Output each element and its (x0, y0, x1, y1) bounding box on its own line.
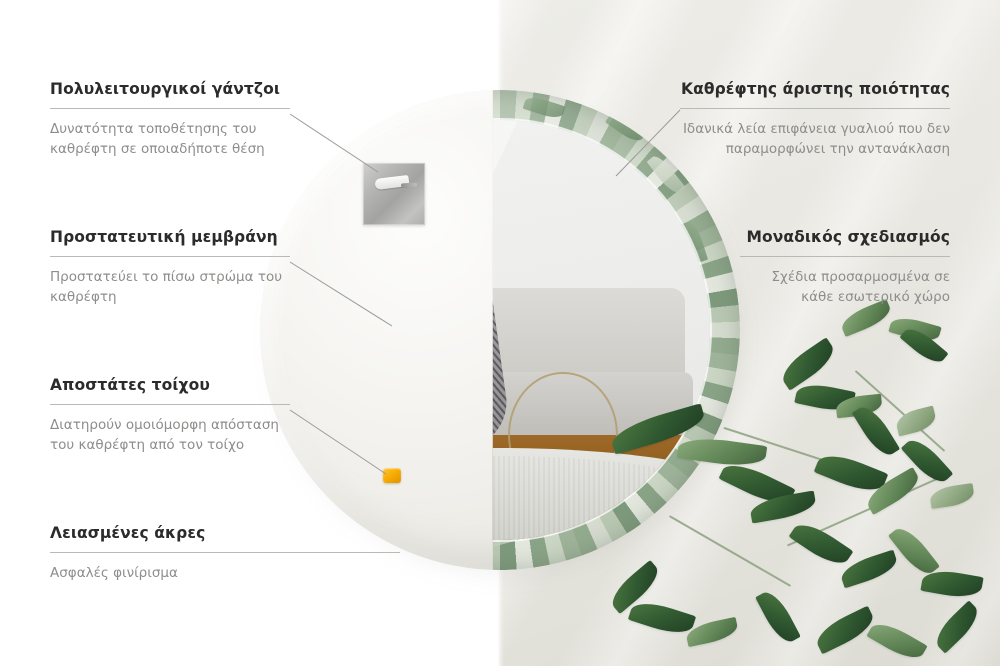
callout-title: Προστατευτική μεμβράνη (50, 228, 290, 247)
callout-rule (50, 552, 400, 553)
callout-title: Καθρέφτης άριστης ποιότητας (680, 80, 950, 99)
callout-rule (50, 256, 290, 257)
callout-description: Διατηρούν ομοιόμορφη απόσταση του καθρέφ… (50, 415, 290, 456)
infographic-canvas: Πολυλειτουργικοί γάντζοι Δυνατότητα τοπο… (0, 0, 1000, 666)
callout-wall-spacers: Αποστάτες τοίχου Διατηρούν ομοιόμορφη απ… (50, 376, 290, 456)
hanging-hook-plate (363, 163, 425, 225)
callout-description: Δυνατότητα τοποθέτησης του καθρέφτη σε ο… (50, 119, 290, 160)
callout-description: Ιδανικά λεία επιφάνεια γυαλιού που δεν π… (680, 119, 950, 160)
callout-description: Προστατεύει το πίσω στρώμα του καθρέφτη (50, 267, 290, 308)
callout-rule (50, 404, 290, 405)
callout-rule (740, 256, 950, 257)
callout-rule (680, 108, 950, 109)
callout-title: Πολυλειτουργικοί γάντζοι (50, 80, 290, 99)
callout-title: Λειασμένες άκρες (50, 524, 400, 543)
callout-multifunctional-hooks: Πολυλειτουργικοί γάντζοι Δυνατότητα τοπο… (50, 80, 290, 160)
callout-top-quality-mirror: Καθρέφτης άριστης ποιότητας Ιδανικά λεία… (680, 80, 950, 160)
hook-tail-icon (401, 182, 417, 187)
callout-rule (50, 108, 290, 109)
callout-title: Μοναδικός σχεδιασμός (740, 228, 950, 247)
callout-description: Ασφαλές φινίρισμα (50, 563, 400, 584)
callout-description: Σχέδια προσαρμοσμένα σε κάθε εσωτερικό χ… (740, 267, 950, 308)
callout-title: Αποστάτες τοίχου (50, 376, 290, 395)
callout-unique-design: Μοναδικός σχεδιασμός Σχέδια προσαρμοσμέν… (740, 228, 950, 308)
mirror-product (260, 90, 740, 570)
callout-protective-membrane: Προστατευτική μεμβράνη Προστατεύει το πί… (50, 228, 290, 308)
yellow-wall-spacer (383, 468, 401, 483)
callout-polished-edges: Λειασμένες άκρες Ασφαλές φινίρισμα (50, 524, 400, 583)
